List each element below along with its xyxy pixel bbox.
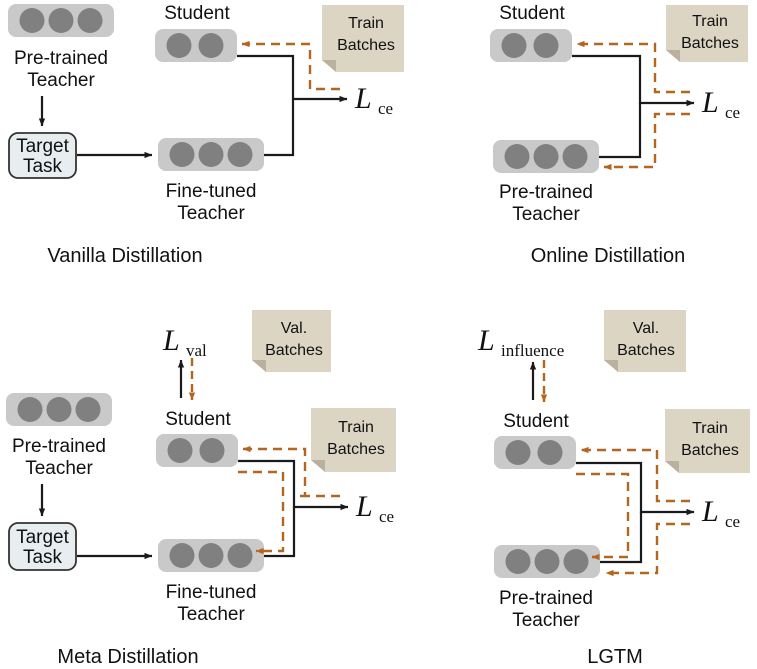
meta-student-label: Student — [165, 409, 231, 430]
neuron — [505, 144, 530, 169]
note-line-2: Batches — [681, 35, 739, 52]
meta-finetuned-teacher — [158, 539, 264, 572]
note-line-2: Batches — [327, 441, 385, 458]
meta-target-task: Target Task — [9, 523, 76, 570]
neuron — [199, 543, 224, 568]
loss-symbol: L — [354, 82, 372, 115]
vanilla-pretrained-teacher-label-2: Teacher — [27, 70, 95, 91]
note-line-2: Batches — [681, 442, 739, 459]
online-train-batches-note: Train Batches — [666, 5, 748, 62]
meta-pretrained-teacher-label-1: Pre-trained — [12, 436, 106, 457]
vanilla-finetuned-teacher-label-2: Teacher — [177, 203, 245, 224]
loss-subscript: ce — [378, 99, 393, 118]
online-student-label: Student — [499, 3, 565, 24]
neuron — [199, 142, 224, 167]
vanilla-finetuned-teacher-label-1: Fine-tuned — [166, 181, 257, 202]
vanilla-pretrained-teacher-label-1: Pre-trained — [14, 48, 108, 69]
neuron — [168, 438, 193, 463]
lgtm-pretrained-teacher — [494, 545, 600, 578]
neuron — [563, 144, 588, 169]
online-student — [490, 29, 572, 62]
loss-subscript: ce — [725, 103, 740, 122]
meta-train-batches-note: Train Batches — [311, 408, 396, 472]
meta-caption: Meta Distillation — [57, 646, 198, 668]
neuron — [78, 8, 103, 33]
lgtm-val-batches-note: Val. Batches — [604, 310, 686, 372]
neuron — [502, 33, 527, 58]
neuron — [49, 8, 74, 33]
lgtm-student — [494, 436, 576, 469]
neuron — [167, 33, 192, 58]
note-line-1: Train — [338, 419, 374, 436]
neuron — [47, 397, 72, 422]
neuron — [535, 549, 560, 574]
meta-finetuned-teacher-label-2: Teacher — [177, 604, 245, 625]
neuron — [534, 33, 559, 58]
meta-pretrained-teacher — [6, 393, 112, 426]
loss-subscript: ce — [725, 512, 740, 531]
note-line-1: Train — [348, 15, 384, 32]
lgtm-train-batches-note: Train Batches — [665, 409, 750, 473]
meta-student — [156, 434, 238, 467]
neuron — [534, 144, 559, 169]
loss-subscript: influence — [501, 341, 564, 360]
neuron — [170, 543, 195, 568]
vanilla-pretrained-teacher — [8, 4, 114, 37]
neuron — [199, 33, 224, 58]
vanilla-target-task: Target Task — [9, 133, 76, 178]
loss-subscript: ce — [379, 507, 394, 526]
note-line-2: Batches — [617, 342, 675, 359]
lgtm-caption: LGTM — [587, 646, 643, 668]
note-line-1: Val. — [633, 320, 659, 337]
meta-pretrained-teacher-label-2: Teacher — [25, 458, 93, 479]
neuron — [228, 142, 253, 167]
vanilla-student — [155, 29, 237, 62]
vanilla-target-task-label-1: Target — [16, 136, 70, 157]
note-line-2: Batches — [337, 37, 395, 54]
vanilla-finetuned-teacher — [158, 138, 264, 171]
neuron — [200, 438, 225, 463]
figure-canvas: Pre-trained Teacher Target Task Student … — [0, 0, 757, 669]
neuron — [564, 549, 589, 574]
neuron — [506, 440, 531, 465]
online-caption: Online Distillation — [531, 245, 686, 267]
meta-target-task-label-1: Target — [16, 527, 70, 548]
neuron — [20, 8, 45, 33]
loss-symbol: L — [701, 495, 719, 528]
online-pretrained-teacher-label-2: Teacher — [512, 204, 580, 225]
neuron — [76, 397, 101, 422]
lgtm-pretrained-teacher-label-1: Pre-trained — [499, 588, 593, 609]
neuron — [228, 543, 253, 568]
neuron — [538, 440, 563, 465]
vanilla-student-label: Student — [164, 3, 230, 24]
note-line-1: Val. — [281, 320, 307, 337]
loss-subscript: val — [186, 341, 207, 360]
loss-symbol: L — [162, 324, 180, 357]
note-line-1: Train — [692, 13, 728, 30]
meta-finetuned-teacher-label-1: Fine-tuned — [166, 582, 257, 603]
online-pretrained-teacher-label-1: Pre-trained — [499, 182, 593, 203]
neuron — [506, 549, 531, 574]
vanilla-target-task-label-2: Task — [23, 156, 63, 177]
loss-symbol: L — [701, 86, 719, 119]
loss-symbol: L — [355, 490, 373, 523]
neuron — [170, 142, 195, 167]
vanilla-train-batches-note: Train Batches — [322, 5, 404, 72]
loss-symbol: L — [477, 324, 495, 357]
note-line-2: Batches — [265, 342, 323, 359]
meta-target-task-label-2: Task — [23, 547, 63, 568]
lgtm-student-label: Student — [503, 411, 569, 432]
neuron — [18, 397, 43, 422]
note-line-1: Train — [692, 420, 728, 437]
vanilla-caption: Vanilla Distillation — [47, 245, 202, 267]
meta-val-batches-note: Val. Batches — [252, 310, 331, 372]
lgtm-pretrained-teacher-label-2: Teacher — [512, 610, 580, 631]
online-pretrained-teacher — [493, 140, 599, 173]
diagram-svg: Pre-trained Teacher Target Task Student … — [0, 0, 757, 669]
